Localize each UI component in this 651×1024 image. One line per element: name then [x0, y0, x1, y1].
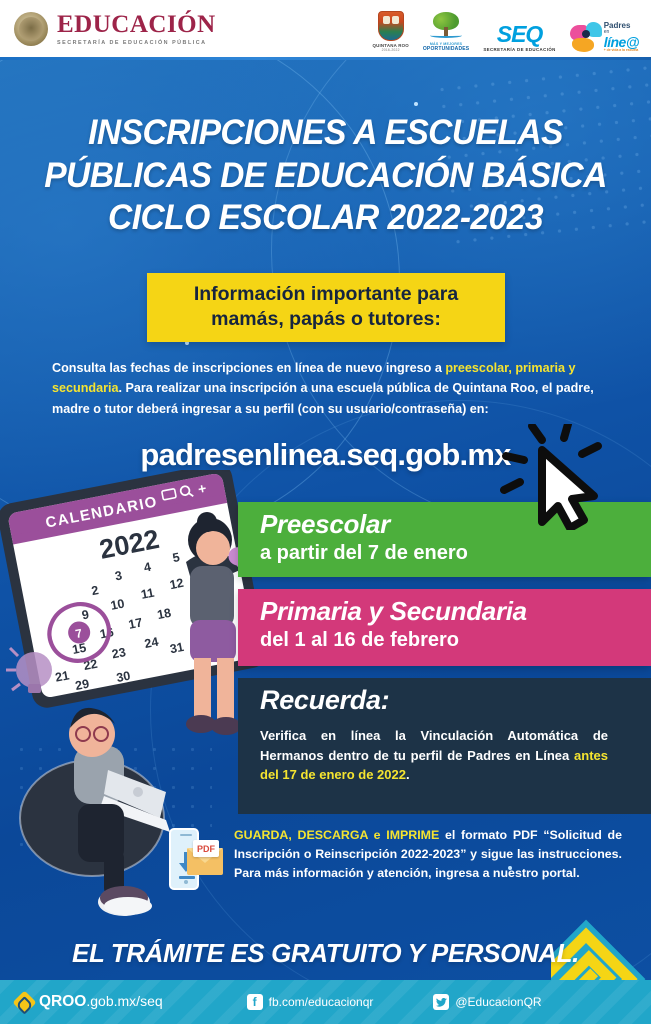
- partner-logos: QUINTANA ROO 2016-2022 MÁS Y MEJORES OPO…: [373, 6, 639, 52]
- svg-text:12: 12: [169, 576, 185, 592]
- twitter-handle: @EducacionQR: [455, 995, 541, 1009]
- mouse-click-cursor-icon: [498, 424, 616, 530]
- svg-text:10: 10: [109, 596, 125, 612]
- recuerda-text-2: .: [406, 767, 410, 782]
- padres-linea: líne@: [604, 35, 639, 49]
- svg-text:11: 11: [140, 586, 156, 602]
- oportunidades-caption-2: OPORTUNIDADES: [423, 46, 470, 52]
- page-title: INSCRIPCIONES A ESCUELAS PÚBLICAS DE EDU…: [0, 112, 651, 240]
- intro-part-1: Consulta las fechas de inscripciones en …: [52, 361, 445, 375]
- intro-part-2: . Para realizar una inscripción a una es…: [52, 381, 594, 415]
- pdf-badge: PDF: [193, 840, 219, 857]
- svg-text:23: 23: [111, 645, 127, 661]
- qroo-logo-icon: [12, 990, 36, 1014]
- band-primaria-secundaria: Primaria y Secundaria del 1 al 16 de feb…: [238, 589, 651, 666]
- svg-text:29: 29: [74, 677, 90, 693]
- band-preescolar-dates: a partir del 7 de enero: [260, 541, 651, 565]
- svg-text:18: 18: [156, 606, 172, 622]
- band-primaria-heading: Primaria y Secundaria: [260, 596, 651, 627]
- pdf-text-1: el formato PDF: [439, 828, 543, 842]
- facebook-icon: f: [247, 994, 263, 1010]
- poster-root: CALENDARIO + ‹ › 2022 3456 2 9101112 1 1…: [0, 0, 651, 1024]
- ministry-name: EDUCACIÓN: [57, 12, 216, 37]
- footer-site-bold: QROO: [39, 993, 86, 1010]
- free-procedure-tagline: EL TRÁMITE ES GRATUITO Y PERSONAL.: [0, 938, 651, 969]
- sparkle-dot: [414, 102, 418, 106]
- footer-twitter-link[interactable]: @EducacionQR: [433, 994, 541, 1010]
- qroo-years: 2016-2022: [373, 48, 409, 52]
- title-line-3: CICLO ESCOLAR 2022-2023: [13, 197, 638, 240]
- header-divider: [0, 57, 651, 60]
- oportunidades-logo: MÁS Y MEJORES OPORTUNIDADES: [423, 12, 470, 52]
- title-line-2: PÚBLICAS DE EDUCACIÓN BÁSICA: [13, 155, 638, 198]
- important-info-banner: Información importante para mamás, papás…: [147, 273, 505, 342]
- pdf-instructions-text: GUARDA, DESCARGA e IMPRIME el formato PD…: [234, 826, 622, 883]
- title-line-1: INSCRIPCIONES A ESCUELAS: [13, 112, 638, 155]
- recuerda-panel: Recuerda: Verifica en línea la Vinculaci…: [238, 678, 651, 814]
- footer-site-rest: .gob.mx/seq: [86, 993, 162, 1009]
- page-footer: QROO.gob.mx/seq f fb.com/educacionqr @Ed…: [0, 980, 651, 1024]
- banner-line-1: Información importante para: [155, 282, 497, 307]
- svg-text:30: 30: [115, 669, 131, 685]
- svg-text:31: 31: [169, 640, 185, 656]
- intro-paragraph: Consulta las fechas de inscripciones en …: [52, 358, 604, 419]
- quintana-roo-coat-of-arms-icon: [378, 11, 404, 41]
- padres-en-linea-logo: Padres en líne@ + de vida a la escuela: [570, 22, 639, 52]
- sep-ministry-logo: EDUCACIÓN SECRETARÍA DE EDUCACIÓN PÚBLIC…: [14, 12, 216, 46]
- tree-opportunities-icon: [426, 12, 466, 42]
- seq-subtitle: SECRETARÍA DE EDUCACIÓN: [483, 47, 555, 52]
- person-with-laptop-illustration: [20, 708, 170, 916]
- svg-text:17: 17: [127, 615, 143, 631]
- mexico-eagle-seal-icon: [14, 12, 48, 46]
- band-primaria-dates: del 1 al 16 de febrero: [260, 628, 651, 652]
- svg-text:21: 21: [54, 668, 70, 684]
- quintana-roo-logo: QUINTANA ROO 2016-2022: [373, 11, 409, 52]
- seq-logo-icon: SEQ: [483, 23, 555, 46]
- footer-facebook-link[interactable]: f fb.com/educacionqr: [247, 994, 374, 1010]
- banner-line-2: mamás, papás o tutores:: [155, 307, 497, 332]
- pdf-instructions-section: PDF GUARDA, DESCARGA e IMPRIME el format…: [163, 826, 623, 896]
- recuerda-text-1: Verifica en línea la Vinculación Automát…: [260, 728, 608, 763]
- seq-logo: SEQ SECRETARÍA DE EDUCACIÓN: [483, 23, 555, 52]
- page-header: EDUCACIÓN SECRETARÍA DE EDUCACIÓN PÚBLIC…: [0, 0, 651, 57]
- svg-text:24: 24: [143, 635, 159, 651]
- footer-website-link[interactable]: QROO.gob.mx/seq: [16, 993, 163, 1011]
- recuerda-body: Verifica en línea la Vinculación Automát…: [260, 726, 608, 785]
- padres-en-linea-logo-icon: [570, 22, 602, 52]
- phone-pdf-download-icon: PDF: [163, 826, 223, 896]
- padres-word: Padres: [604, 22, 639, 30]
- facebook-handle: fb.com/educacionqr: [269, 995, 374, 1009]
- recuerda-heading: Recuerda:: [260, 685, 651, 717]
- pdf-actions-emphasis: GUARDA, DESCARGA e IMPRIME: [234, 828, 439, 842]
- padres-slogan: + de vida a la escuela: [604, 49, 639, 52]
- ministry-subtitle: SECRETARÍA DE EDUCACIÓN PÚBLICA: [57, 40, 216, 46]
- twitter-icon: [433, 994, 449, 1010]
